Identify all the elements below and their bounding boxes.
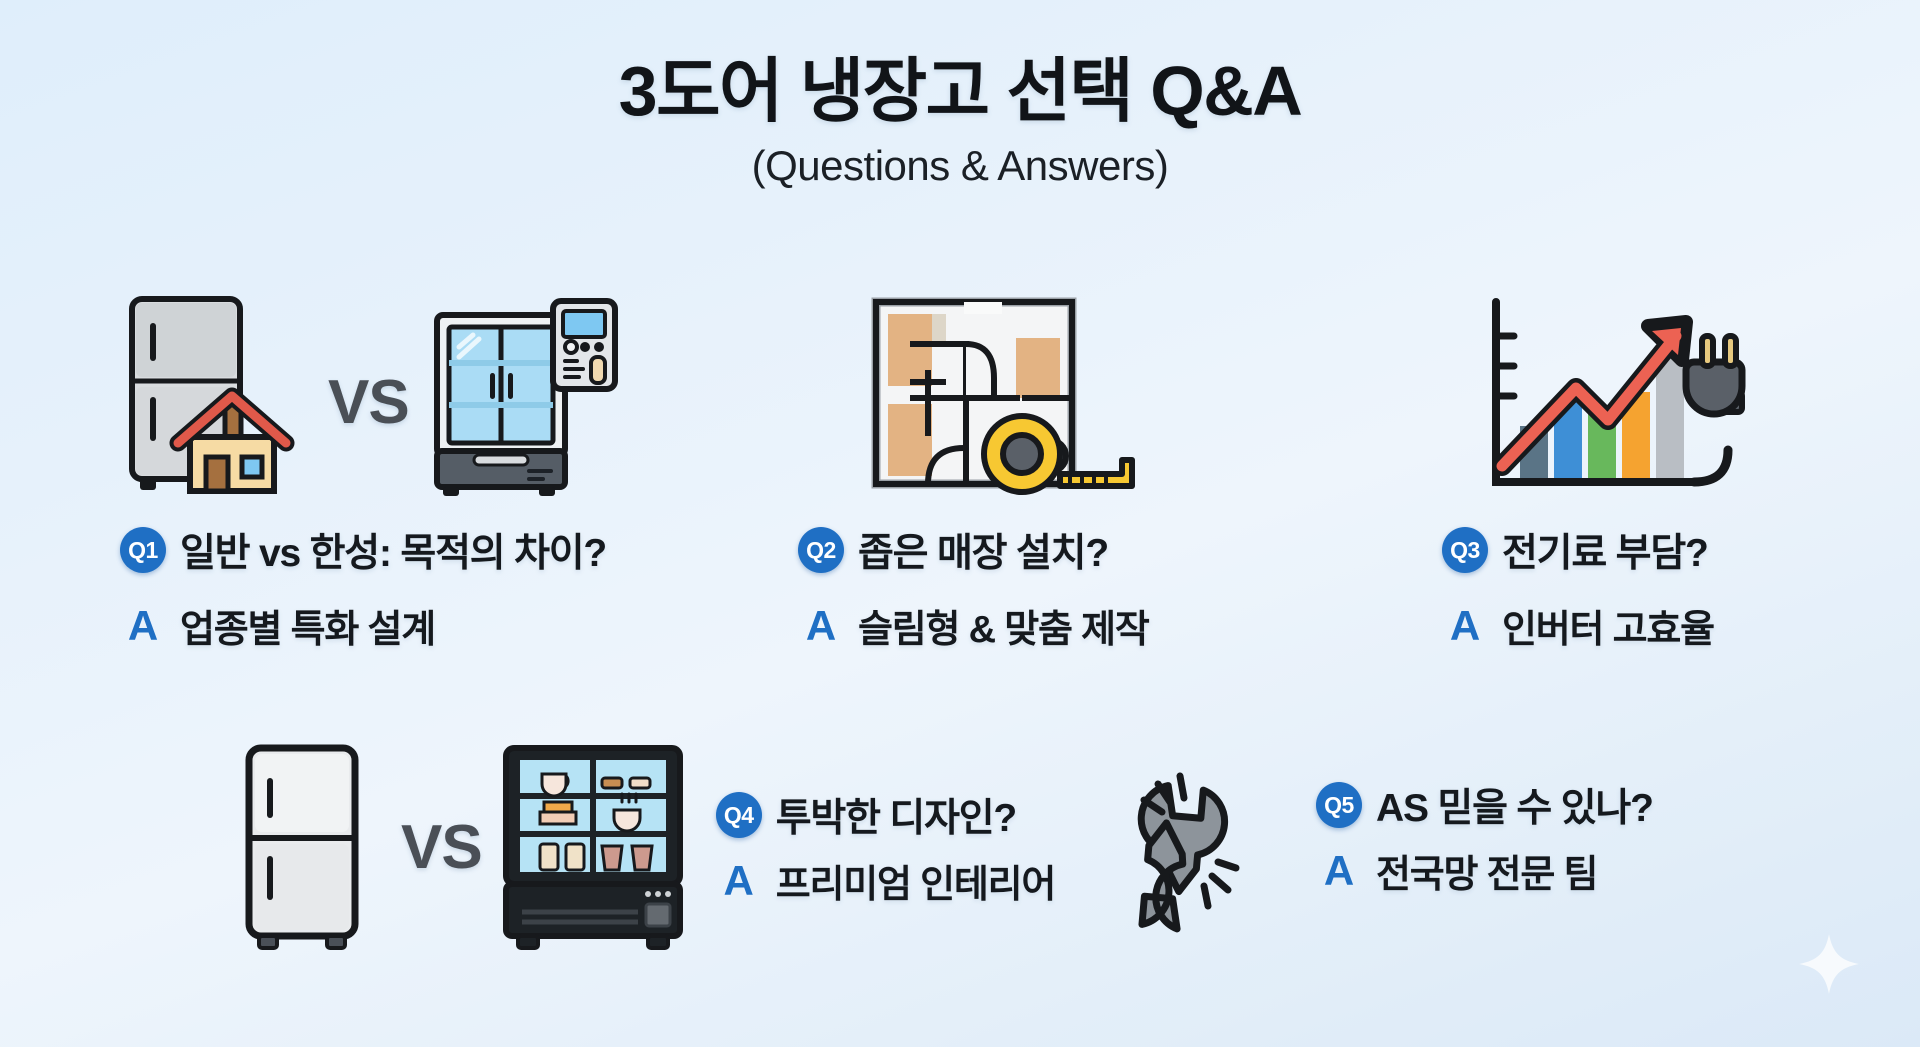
broken-wrench-icon (1100, 740, 1300, 935)
q5-badge: Q5 (1316, 782, 1362, 828)
q3-answer-marker: A (1442, 605, 1488, 647)
q1-question-line: Q1 일반 vs 한성: 목적의 차이? (120, 522, 740, 578)
q5-answer-text: 전국망 전문 팀 (1376, 843, 1597, 898)
q5-answer-marker: A (1316, 850, 1362, 892)
commercial-display-fridge-icon (427, 291, 627, 496)
q1-illustration: VS (120, 286, 740, 496)
q3-answer-line: A 인버터 고효율 (1442, 598, 1890, 653)
cake-display-case-icon (498, 740, 688, 955)
sparkle-icon (1798, 933, 1860, 995)
q1-badge: Q1 (120, 527, 166, 573)
q3-illustration (1420, 286, 1890, 496)
q4-question-text: 투박한 디자인? (776, 787, 1016, 843)
qa-card-q2: Q2 좁은 매장 설치? A 슬림형 & 맞춤 제작 (790, 286, 1290, 653)
q2-answer-marker: A (798, 605, 844, 647)
q4-question-line: Q4 투박한 디자인? (716, 787, 1055, 843)
qa-card-q4: VS (225, 740, 1065, 955)
page-title: 3도어 냉장고 선택 Q&A (0, 52, 1920, 130)
q4-answer-line: A 프리미엄 인테리어 (716, 853, 1055, 908)
page-subtitle: (Questions & Answers) (0, 142, 1920, 190)
q5-qa-block: Q5 AS 믿을 수 있나? A 전국망 전문 팀 (1316, 777, 1653, 898)
floor-plan-icon (870, 296, 1140, 496)
q2-badge: Q2 (798, 527, 844, 573)
infographic-board: 3도어 냉장고 선택 Q&A (Questions & Answers) (0, 0, 1920, 1047)
home-refrigerator-icon (225, 740, 385, 955)
q1-qa-block: Q1 일반 vs 한성: 목적의 차이? A 업종별 특화 설계 (120, 522, 740, 653)
q4-badge: Q4 (716, 792, 762, 838)
header: 3도어 냉장고 선택 Q&A (Questions & Answers) (0, 52, 1920, 190)
qa-card-q5: Q5 AS 믿을 수 있나? A 전국망 전문 팀 (1100, 740, 1780, 935)
q2-question-line: Q2 좁은 매장 설치? (798, 522, 1290, 578)
qa-card-q1: VS (120, 286, 740, 653)
home-refrigerator-icon (120, 291, 310, 496)
q2-qa-block: Q2 좁은 매장 설치? A 슬림형 & 맞춤 제작 (790, 522, 1290, 653)
vs-label: VS (328, 367, 409, 438)
q2-answer-text: 슬림형 & 맞춤 제작 (858, 598, 1149, 653)
q2-question-text: 좁은 매장 설치? (858, 522, 1108, 578)
vs-label: VS (401, 812, 482, 883)
power-plug-icon (1686, 336, 1742, 482)
q5-answer-line: A 전국망 전문 팀 (1316, 843, 1653, 898)
q3-question-text: 전기료 부담? (1502, 522, 1708, 578)
bar-chart-icon (1480, 296, 1760, 496)
q4-qa-block: Q4 투박한 디자인? A 프리미엄 인테리어 (716, 787, 1055, 908)
q3-qa-block: Q3 전기료 부담? A 인버터 고효율 (1420, 522, 1890, 653)
q4-answer-marker: A (716, 860, 762, 902)
q3-question-line: Q3 전기료 부담? (1442, 522, 1890, 578)
q1-question-text: 일반 vs 한성: 목적의 차이? (180, 522, 606, 578)
q1-answer-text: 업종별 특화 설계 (180, 598, 435, 653)
q1-answer-marker: A (120, 605, 166, 647)
q4-answer-text: 프리미엄 인테리어 (776, 853, 1055, 908)
q5-question-line: Q5 AS 믿을 수 있나? (1316, 777, 1653, 833)
q5-question-text: AS 믿을 수 있나? (1376, 777, 1653, 833)
q1-answer-line: A 업종별 특화 설계 (120, 598, 740, 653)
q2-answer-line: A 슬림형 & 맞춤 제작 (798, 598, 1290, 653)
q2-illustration (790, 286, 1290, 496)
qa-card-q3: Q3 전기료 부담? A 인버터 고효율 (1420, 286, 1890, 653)
q3-answer-text: 인버터 고효율 (1502, 598, 1714, 653)
chart-bar-5 (1656, 358, 1684, 478)
q3-badge: Q3 (1442, 527, 1488, 573)
